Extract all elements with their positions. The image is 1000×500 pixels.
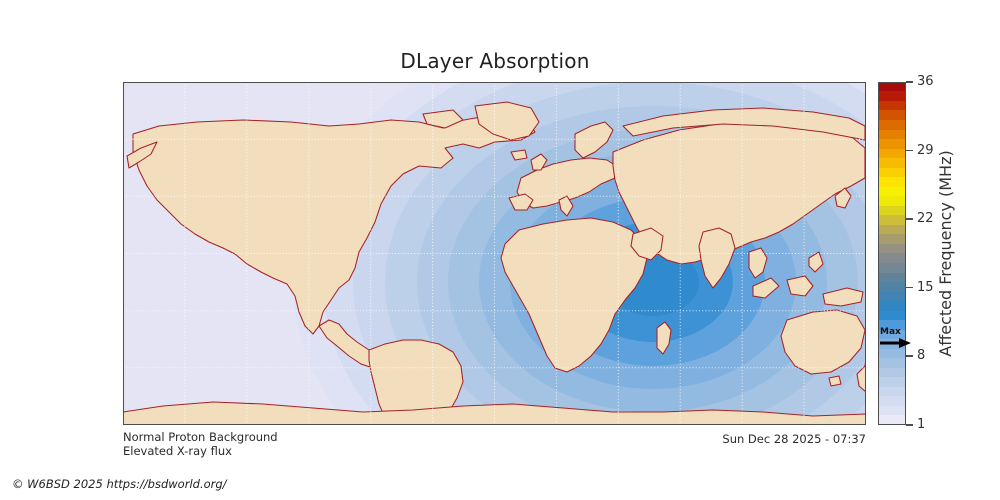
credit-line: © W6BSD 2025 https://bsdworld.org/ (12, 477, 227, 491)
colorbar-max-marker: Max (879, 327, 919, 355)
colorbar-band-19 (878, 234, 906, 244)
max-marker-label: Max (880, 327, 901, 337)
note-xray-flux: Elevated X-ray flux (123, 444, 232, 458)
note-proton-background: Normal Proton Background (123, 430, 278, 444)
page-title: DLayer Absorption (0, 49, 990, 73)
timestamp: Sun Dec 28 2025 - 07:37 (560, 432, 866, 446)
dlayer-absorption-figure: DLayer Absorption (0, 0, 1000, 500)
tick-dash (906, 81, 913, 83)
colorbar[interactable] (878, 82, 906, 425)
colorbar-band-20 (878, 225, 906, 235)
colorbar-axis-label: Affected Frequency (MHz) (932, 82, 960, 425)
colorbar-band-15 (878, 273, 906, 283)
colorbar-band-5 (878, 368, 906, 378)
colorbar-band-25 (878, 177, 906, 187)
colorbar-band-31 (878, 120, 906, 130)
colorbar-band-13 (878, 292, 906, 302)
colorbar-band-24 (878, 187, 906, 197)
colorbar-band-35 (878, 82, 906, 92)
colorbar-band-22 (878, 206, 906, 216)
colorbar-band-4 (878, 377, 906, 387)
colorbar-band-27 (878, 158, 906, 168)
tasmania (829, 376, 841, 386)
tick-dash (906, 355, 913, 357)
map-svg (123, 82, 866, 425)
colorbar-band-33 (878, 101, 906, 111)
colorbar-band-34 (878, 91, 906, 101)
tick-dash (906, 287, 913, 289)
max-arrow-icon (879, 337, 915, 351)
colorbar-band-17 (878, 253, 906, 263)
tick-dash (906, 150, 913, 152)
tick-label: 1 (917, 416, 925, 433)
colorbar-band-1 (878, 406, 906, 416)
colorbar-band-18 (878, 244, 906, 254)
colorbar-band-3 (878, 387, 906, 397)
colorbar-band-21 (878, 215, 906, 225)
colorbar-band-16 (878, 263, 906, 273)
colorbar-band-11 (878, 311, 906, 321)
tick-dash (906, 218, 913, 220)
colorbar-band-0 (878, 415, 906, 425)
colorbar-band-6 (878, 358, 906, 368)
colorbar-band-2 (878, 396, 906, 406)
colorbar-band-12 (878, 301, 906, 311)
colorbar-band-29 (878, 139, 906, 149)
colorbar-gradient (878, 82, 906, 425)
colorbar-band-28 (878, 149, 906, 159)
colorbar-band-23 (878, 196, 906, 206)
colorbar-band-14 (878, 282, 906, 292)
colorbar-band-26 (878, 168, 906, 178)
world-map[interactable] (123, 82, 866, 425)
colorbar-band-30 (878, 130, 906, 140)
colorbar-band-32 (878, 110, 906, 120)
tick-dash (906, 424, 913, 426)
